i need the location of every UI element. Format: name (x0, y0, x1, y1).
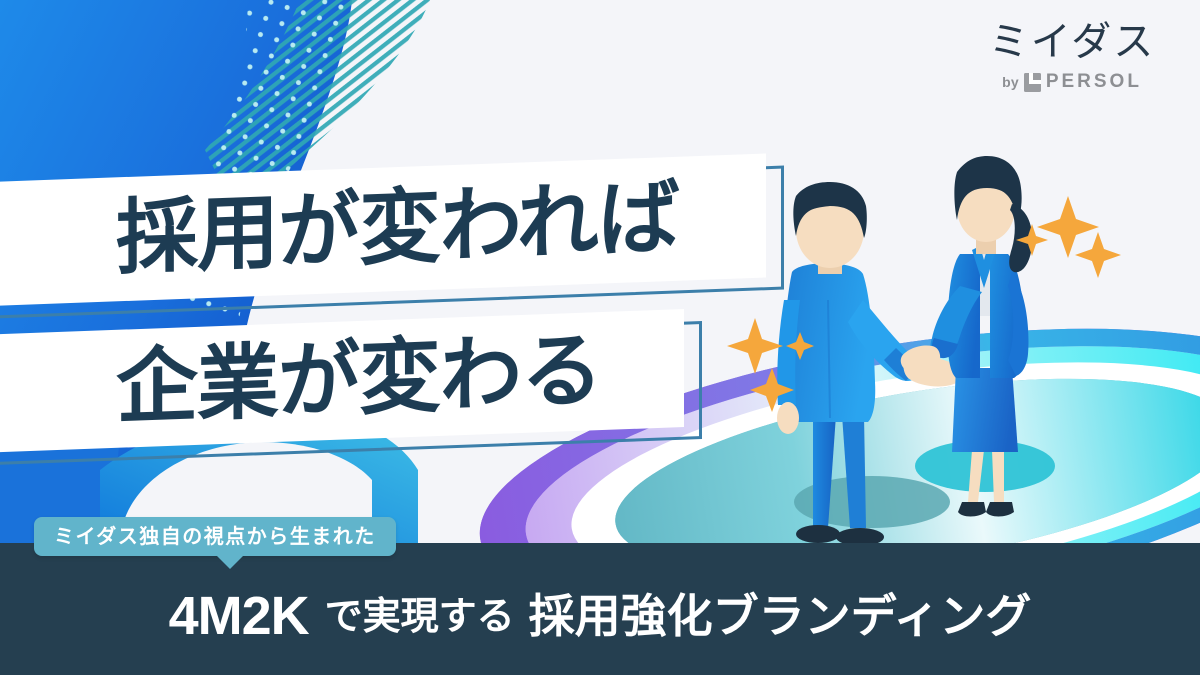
promo-banner-canvas: 採用が変われば 企業が変わる 4M2K で実現する 採用強化ブランディング ミイ… (0, 0, 1200, 675)
headline-line1-text: 採用が変われば (116, 178, 679, 281)
brand-by-label: by (1002, 74, 1019, 90)
headline-line2-text: 企業が変わる (116, 330, 602, 430)
person-businesswoman (901, 156, 1033, 517)
footer-headline: 4M2K で実現する 採用強化ブランディング (0, 543, 1200, 675)
footer-tagline: 採用強化ブランディング (529, 593, 1032, 639)
origin-badge: ミイダス独自の視点から生まれた (34, 517, 396, 556)
badge-label: ミイダス独自の視点から生まれた (54, 524, 376, 548)
brand-parent-name: PERSOL (1046, 71, 1142, 93)
badge-body: ミイダス独自の視点から生まれた (34, 517, 396, 556)
brand-logo: ミイダス by PERSOL (972, 22, 1172, 93)
footer-connector: で実現する (325, 597, 515, 635)
footer-keyword: 4M2K (169, 589, 309, 643)
brand-parent-lockup: by PERSOL (1002, 71, 1142, 93)
headline-banner-line1: 採用が変われば (0, 168, 766, 292)
headline-banner-line2: 企業が変わる (0, 322, 684, 440)
badge-pointer-icon (216, 555, 244, 569)
footer-bar: 4M2K で実現する 採用強化ブランディング (0, 543, 1200, 675)
persol-square-icon (1024, 73, 1041, 92)
brand-logo-mark: ミイダス (989, 22, 1155, 62)
